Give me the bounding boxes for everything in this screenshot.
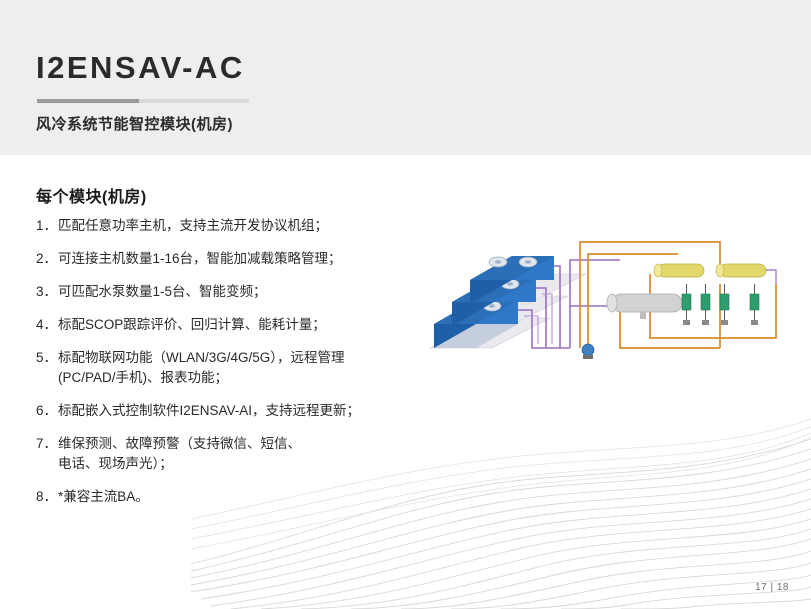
- list-item: 3． 可匹配水泵数量1-5台、智能变频；: [36, 282, 436, 302]
- list-item-number: 2．: [36, 249, 58, 269]
- list-item-text: 可匹配水泵数量1-5台、智能变频；: [58, 282, 436, 302]
- list-item-text: 维保预测、故障预警（支持微信、短信、 电话、现场声光）；: [58, 434, 436, 474]
- list-item-text: 标配嵌入式控制软件I2ENSAV-AI，支持远程更新；: [58, 401, 436, 421]
- list-item: 7． 维保预测、故障预警（支持微信、短信、 电话、现场声光）；: [36, 434, 436, 474]
- list-item-number: 8．: [36, 487, 58, 507]
- page-title: I2ENSAV-AC: [36, 50, 245, 86]
- list-item: 6． 标配嵌入式控制软件I2ENSAV-AI，支持远程更新；: [36, 401, 436, 421]
- list-item-text: 标配物联网功能（WLAN/3G/4G/5G），远程管理 (PC/PAD/手机)、…: [58, 348, 436, 388]
- list-item-number: 1．: [36, 216, 58, 236]
- list-item-number: 4．: [36, 315, 58, 335]
- section-title: 每个模块(机房): [36, 183, 147, 207]
- list-item-text: 可连接主机数量1-16台，智能加减载策略管理；: [58, 249, 436, 269]
- slide: I2ENSAV-AC 风冷系统节能智控模块(机房): [0, 0, 811, 609]
- feature-list: 1． 匹配任意功率主机，支持主流开发协议机组； 2． 可连接主机数量1-16台，…: [36, 216, 436, 520]
- list-item-text: 匹配任意功率主机，支持主流开发协议机组；: [58, 216, 436, 236]
- list-item-number: 6．: [36, 401, 58, 421]
- page-number: 17 | 18: [755, 582, 789, 593]
- list-item-number: 7．: [36, 434, 58, 454]
- title-divider: [37, 99, 249, 103]
- page-subtitle: 风冷系统节能智控模块(机房): [36, 113, 233, 134]
- list-item: 4． 标配SCOP跟踪评价、回归计算、能耗计量；: [36, 315, 436, 335]
- list-item-number: 3．: [36, 282, 58, 302]
- list-item: 1． 匹配任意功率主机，支持主流开发协议机组；: [36, 216, 436, 236]
- list-item: 5． 标配物联网功能（WLAN/3G/4G/5G），远程管理 (PC/PAD/手…: [36, 348, 436, 388]
- list-item-number: 5．: [36, 348, 58, 368]
- list-item: 2． 可连接主机数量1-16台，智能加减载策略管理；: [36, 249, 436, 269]
- list-item-text: *兼容主流BA。: [58, 487, 436, 507]
- list-item: 8． *兼容主流BA。: [36, 487, 436, 507]
- system-diagram: [420, 198, 800, 388]
- list-item-text: 标配SCOP跟踪评价、回归计算、能耗计量；: [58, 315, 436, 335]
